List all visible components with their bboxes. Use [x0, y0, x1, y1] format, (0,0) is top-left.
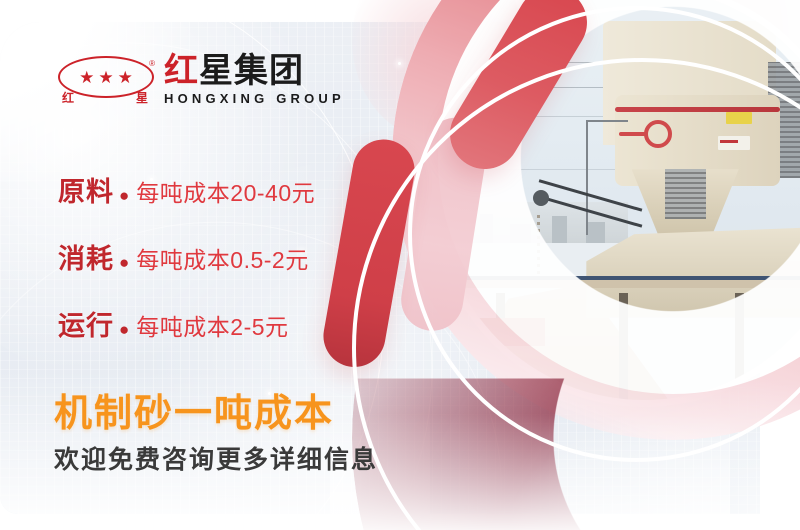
conveyor-head-pulley [533, 190, 549, 206]
photo-content [438, 0, 800, 400]
machine-photo [438, 0, 800, 400]
logo-name-cn-red: 红 [164, 52, 199, 90]
machine-red-band [615, 107, 780, 112]
promo-banner: ★ ★ ★ ® 红 星 红星集团 HONGXING GROUP 原料 ● 每吨成… [0, 0, 800, 530]
logo-name-cn: 红星集团 [164, 54, 345, 90]
list-item: 运行 ● 每吨成本2-5元 [58, 304, 388, 343]
support-post-2 [619, 293, 628, 400]
machine-red-lever [619, 132, 648, 136]
bullet-tag: 消耗 [58, 237, 114, 276]
bullet-dot-icon: ● [119, 320, 129, 340]
page-title: 机制砂一吨成本 [54, 382, 334, 437]
bullet-dot-icon: ● [119, 253, 129, 273]
registered-mark: ® [149, 59, 155, 68]
list-item: 消耗 ● 每吨成本0.5-2元 [58, 237, 388, 276]
machine-white-label [718, 136, 750, 150]
bullet-text: 每吨成本2-5元 [136, 308, 288, 342]
logo-badge: ★ ★ ★ ® 红 星 [58, 52, 152, 108]
logo-name-cn-rest: 星集团 [199, 52, 304, 90]
falling-material-stream [537, 215, 540, 281]
page-subtitle: 欢迎免费咨询更多详细信息 [54, 440, 378, 476]
machine-yellow-label [726, 112, 752, 124]
machine-grate-mid [665, 169, 706, 218]
logo-wordmark: 红星集团 HONGXING GROUP [164, 54, 345, 106]
support-post-1 [496, 293, 505, 400]
badge-char-left: 红 [62, 92, 74, 104]
bullet-tag: 原料 [58, 170, 114, 209]
shed-roof [438, 318, 545, 347]
support-post-3 [735, 293, 744, 400]
list-item: 原料 ● 每吨成本20-40元 [58, 170, 388, 209]
star-icon: ★ [118, 69, 133, 86]
machine-handrail-top [586, 120, 627, 122]
logo-name-en: HONGXING GROUP [164, 91, 345, 106]
bullet-text: 每吨成本0.5-2元 [136, 241, 308, 275]
sparkle-3 [398, 62, 401, 65]
brand-logo[interactable]: ★ ★ ★ ® 红 星 红星集团 HONGXING GROUP [58, 52, 345, 108]
badge-characters: 红 星 [62, 92, 148, 104]
bullet-dot-icon: ● [119, 186, 129, 206]
bullet-text: 每吨成本20-40元 [136, 174, 315, 208]
platform-beam [438, 276, 800, 288]
star-icon: ★ [79, 69, 94, 86]
star-icon: ★ [98, 69, 113, 86]
cost-bullet-list: 原料 ● 每吨成本20-40元 消耗 ● 每吨成本0.5-2元 运行 ● 每吨成… [58, 170, 388, 371]
machine-handrail-post [586, 120, 588, 235]
machine-red-handwheel [644, 120, 672, 148]
bullet-tag: 运行 [58, 304, 114, 343]
badge-char-right: 星 [136, 92, 148, 104]
